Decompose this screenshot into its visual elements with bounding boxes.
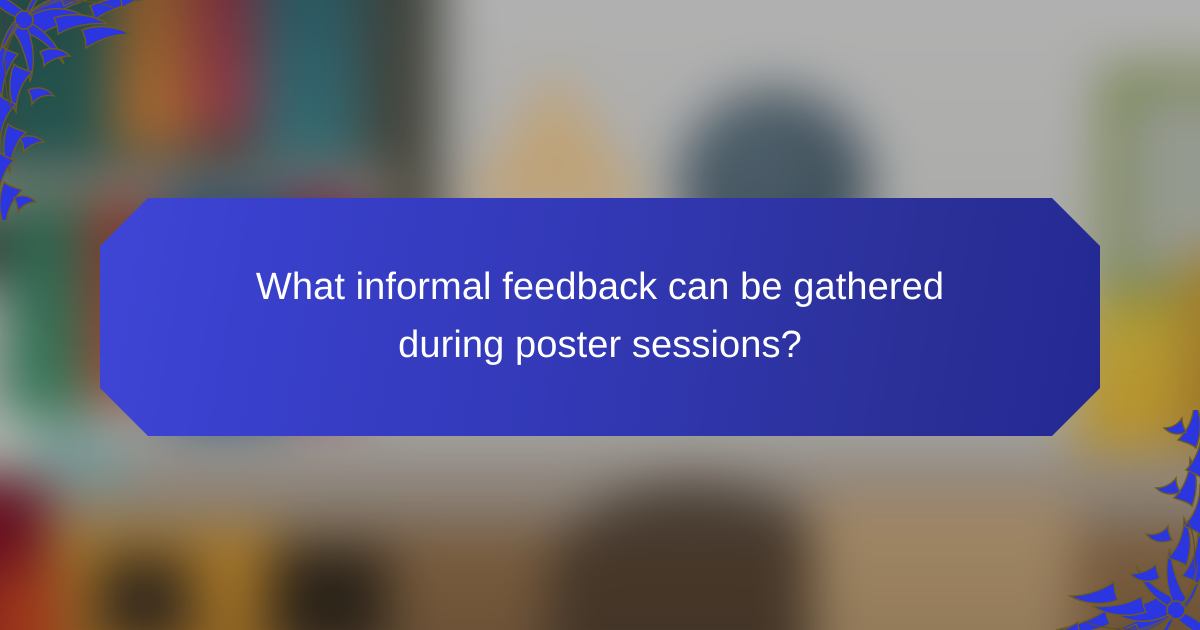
question-text: What informal feedback can be gathered d… [220,259,980,375]
question-card-canvas: What informal feedback can be gathered d… [0,0,1200,630]
question-banner: What informal feedback can be gathered d… [100,198,1100,436]
